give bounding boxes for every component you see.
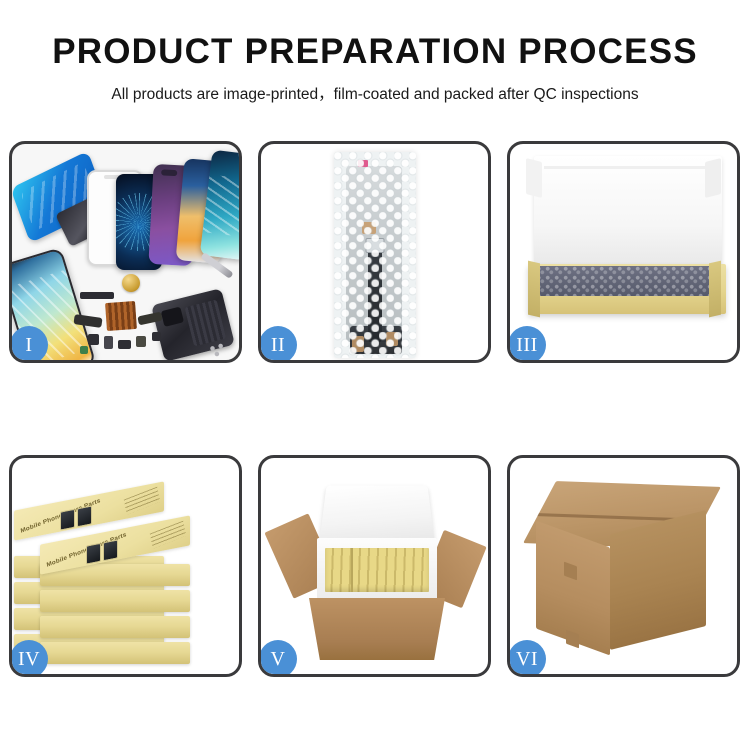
step-badge-1: I: [10, 326, 48, 363]
vibration-motor-part: [122, 274, 140, 292]
small-component-6: [152, 332, 161, 341]
product-parts-overview-image: [12, 144, 239, 360]
bubble-wrapped-screen-image: [261, 144, 488, 360]
process-step-6: VI: [507, 455, 740, 677]
box-spec-lines-back: [124, 487, 160, 515]
step-badge-2: II: [259, 326, 297, 363]
process-step-3: III: [507, 141, 740, 363]
bubble-wrap-bag: [334, 152, 416, 358]
page-header: PRODUCT PREPARATION PROCESS All products…: [0, 0, 750, 104]
process-step-4: Mobile Phone Spare Parts Mobile Phone Sp…: [9, 455, 242, 677]
step-badge-6: VI: [508, 640, 546, 677]
pink-qc-sticker: [358, 160, 368, 167]
box-spec-lines-front: [150, 521, 186, 549]
screws-group: [207, 342, 229, 358]
foam-lined-inner-box-image: [510, 144, 737, 360]
stacked-box-edge-6: [40, 590, 190, 612]
lid-flap-left: [526, 158, 542, 198]
stacked-box-edge-2: [40, 642, 190, 664]
small-component-3: [118, 340, 131, 349]
wrapped-tape-tab: [362, 222, 376, 234]
carton-front-panel: [309, 598, 445, 660]
small-component-4: [136, 336, 146, 347]
process-step-5: V: [258, 455, 491, 677]
grey-foam-padding: [536, 266, 718, 296]
carton-with-foam-insert-image: [261, 458, 488, 674]
foam-insert-lid: [319, 485, 435, 544]
page-title: PRODUCT PREPARATION PROCESS: [0, 34, 750, 69]
step-badge-5: V: [259, 640, 297, 677]
box-thumb-back-a: [60, 509, 75, 531]
stacked-box-edge-4: [40, 616, 190, 638]
process-step-2: II: [258, 141, 491, 363]
wrapped-screen-assembly: [346, 166, 402, 342]
box-thumb-front-a: [86, 543, 101, 565]
step-badge-4: IV: [10, 640, 48, 677]
circuit-board-part: [105, 301, 137, 331]
white-foam-lid: [534, 156, 722, 268]
page-subtitle: All products are image-printed，film-coat…: [0, 82, 750, 104]
small-component-1: [88, 334, 99, 345]
packed-yellow-boxes: [325, 548, 429, 592]
tray-lip-right: [709, 261, 721, 318]
small-component-2: [104, 336, 113, 349]
wrapped-tape-left: [352, 336, 364, 352]
carton-right-face: [610, 510, 706, 650]
lid-flap-right: [705, 158, 721, 198]
step-badge-3: III: [508, 326, 546, 363]
battery-strip-part: [80, 292, 114, 299]
wrapped-flex-cable: [368, 244, 382, 342]
box-thumb-back-b: [77, 505, 92, 527]
wrapped-tape-right: [386, 332, 398, 346]
wrapped-connector: [365, 238, 384, 253]
process-steps-grid: I II III: [9, 141, 741, 677]
sealed-shipping-carton-image: [510, 458, 737, 674]
wrapped-driver-board: [350, 326, 402, 354]
box-thumb-front-b: [103, 539, 118, 561]
stacked-retail-boxes-image: Mobile Phone Spare Parts Mobile Phone Sp…: [12, 458, 239, 674]
small-component-5: [80, 346, 88, 354]
tray-lip-left: [528, 261, 540, 318]
process-step-1: I: [9, 141, 242, 363]
